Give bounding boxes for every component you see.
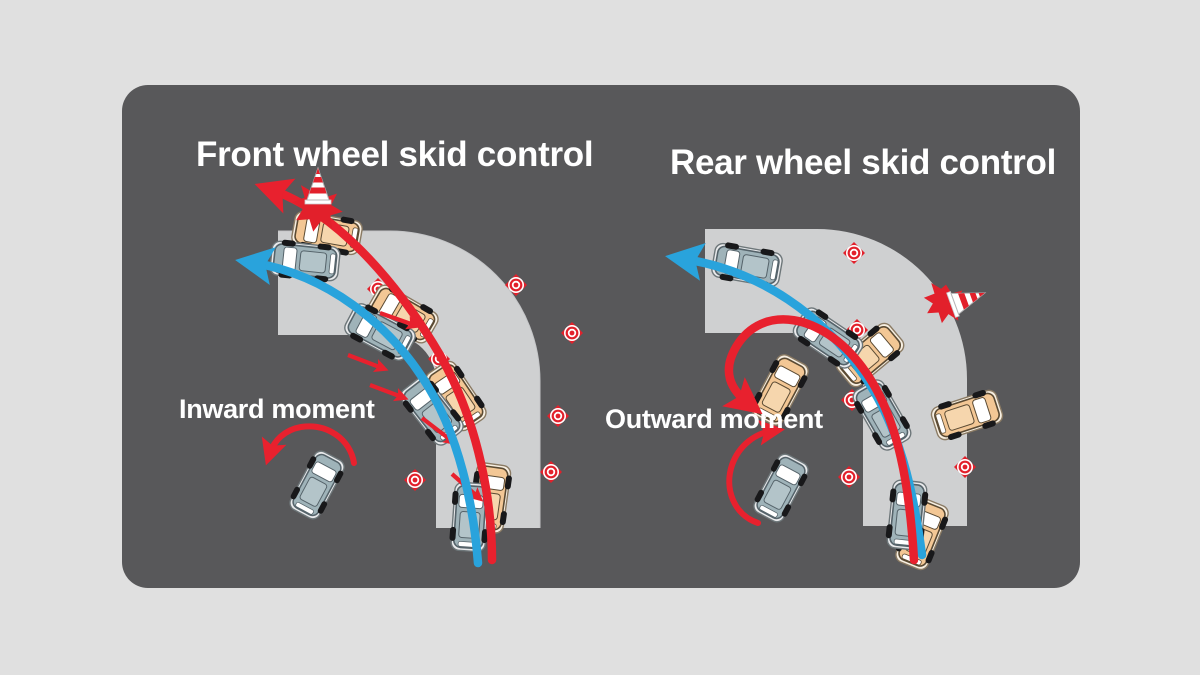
- right-panel-title: Rear wheel skid control: [670, 143, 1056, 183]
- right-moment-inset: [729, 431, 812, 525]
- diagram-panel: Front wheel skid control Rear wheel skid…: [122, 85, 1080, 588]
- left-panel-title: Front wheel skid control: [196, 135, 593, 175]
- screenshot-root: Front wheel skid control Rear wheel skid…: [0, 0, 1200, 675]
- left-moment-label: Inward moment: [179, 394, 375, 425]
- right-moment-label: Outward moment: [605, 404, 823, 435]
- left-moment-inset: [270, 426, 354, 522]
